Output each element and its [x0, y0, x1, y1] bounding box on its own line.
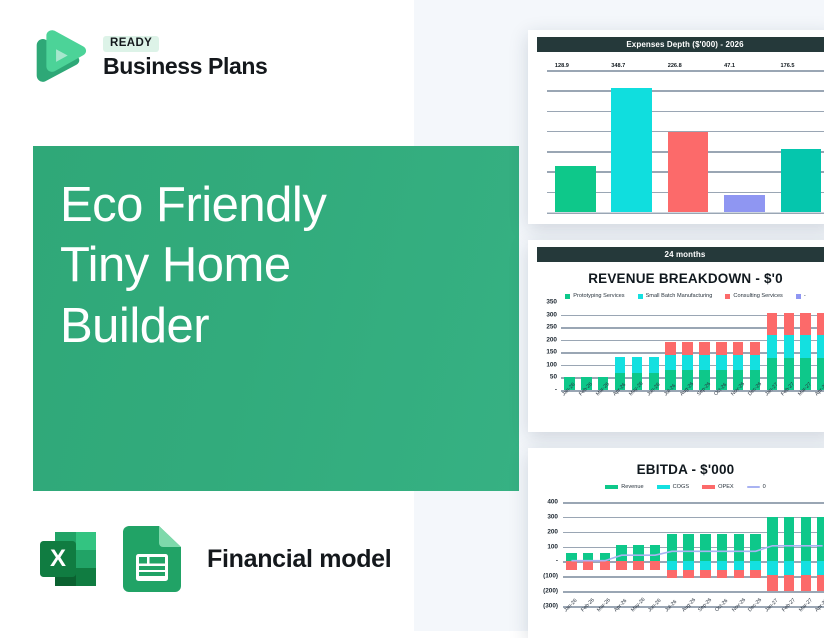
brand-name: Business Plans	[103, 55, 267, 78]
bar-segment	[784, 313, 794, 334]
legend-item: OPEX	[702, 484, 734, 490]
bar-column	[561, 302, 578, 390]
bar-segment	[649, 357, 659, 373]
y-tick-label: 100	[537, 543, 558, 550]
bar-value-label: 128.9	[555, 63, 569, 69]
bar: 47.1	[724, 195, 765, 212]
bar-segment	[699, 355, 709, 371]
legend-label: -	[804, 293, 806, 299]
bar-column	[797, 302, 814, 390]
y-tick-label: 250	[537, 324, 557, 331]
y-tick-label: (100)	[537, 573, 558, 580]
bar-segment	[750, 342, 760, 355]
legend-color-swatch	[725, 294, 730, 299]
legend-item: -	[796, 293, 806, 299]
bar-segment	[784, 335, 794, 358]
bar-segment	[682, 355, 692, 371]
y-tick-label: 200	[537, 336, 557, 343]
page-title: Eco Friendly Tiny Home Builder	[60, 175, 490, 356]
y-tick-label: 300	[537, 513, 558, 520]
bar-segment	[817, 335, 824, 358]
legend-item: Small Batch Manufacturing	[638, 293, 713, 299]
chart-card-ebitda[interactable]: EBITDA - $'000 RevenueCOGSOPEX0 40030020…	[528, 448, 824, 638]
y-tick-label: (300)	[537, 603, 558, 610]
bar-column	[578, 302, 595, 390]
bar-column: 348.7	[603, 70, 659, 212]
ready-badge: READY	[103, 36, 159, 53]
legend-color-swatch	[657, 485, 670, 489]
bar-segment	[716, 342, 726, 355]
y-tick-label: 150	[537, 349, 557, 356]
poster-canvas: READY Business Plans Eco Friendly Tiny H…	[0, 0, 824, 631]
bar-segment	[733, 342, 743, 355]
bar-segment	[767, 335, 777, 358]
legend-item: 0	[747, 484, 766, 490]
legend-color-swatch	[565, 294, 570, 299]
bar: 128.9	[555, 166, 596, 212]
y-tick-label: (200)	[537, 588, 558, 595]
y-tick-label: 400	[537, 499, 558, 506]
legend-item: Consulting Services	[725, 293, 782, 299]
bar-column: 128.9	[547, 70, 603, 212]
bar-column	[696, 302, 713, 390]
revenue-plot-area: 35030025020015010050-Jan-26Feb-26Mar-26A…	[537, 300, 824, 428]
legend-line-swatch	[747, 486, 760, 488]
legend-item: Prototyping Services	[565, 293, 624, 299]
bar-segment	[699, 342, 709, 355]
bar-column	[780, 302, 797, 390]
financial-model-label: Financial model	[207, 545, 391, 574]
play-logo-icon	[27, 26, 89, 88]
bar-value-label: 176.5	[781, 63, 795, 69]
bar-column	[595, 302, 612, 390]
legend-label: Small Batch Manufacturing	[646, 293, 713, 299]
bar: 176.5	[781, 149, 822, 212]
bar-column: 226.8	[660, 70, 716, 212]
y-tick-label: 300	[537, 311, 557, 318]
legend-color-swatch	[702, 485, 715, 489]
bar-column	[612, 302, 629, 390]
bar-segment	[632, 357, 642, 373]
bar-column: 47.1	[716, 70, 772, 212]
y-tick-label: 200	[537, 528, 558, 535]
footer-formats: X Financial model	[33, 524, 391, 594]
bar-column	[730, 302, 747, 390]
bar-column	[679, 302, 696, 390]
expenses-chart-header: Expenses Depth ($'000) - 2026	[537, 37, 824, 52]
ebitda-chart-title: EBITDA - $'000	[537, 462, 824, 477]
legend-label: 0	[763, 484, 766, 490]
bar-column	[629, 302, 646, 390]
bar: 348.7	[611, 88, 652, 212]
google-sheets-icon	[121, 526, 183, 592]
x-axis-labels: Jan-26Feb-26Mar-26Apr-26May-26Jun-26Jul-…	[561, 393, 824, 399]
bar-segment	[733, 355, 743, 371]
y-tick-label: 350	[537, 299, 557, 306]
svg-text:X: X	[50, 545, 66, 572]
y-tick-label: -	[537, 558, 558, 565]
legend-item: Revenue	[605, 484, 643, 490]
bar-column	[747, 302, 764, 390]
revenue-legend: Prototyping ServicesSmall Batch Manufact…	[537, 293, 824, 299]
legend-label: Revenue	[621, 484, 643, 490]
bar-value-label: 226.8	[668, 63, 682, 69]
legend-label: OPEX	[718, 484, 734, 490]
legend-item: COGS	[657, 484, 689, 490]
bar-segment	[817, 313, 824, 334]
revenue-months-header: 24 months	[537, 247, 824, 262]
legend-color-swatch	[638, 294, 643, 299]
y-tick-label: 100	[537, 361, 557, 368]
y-tick-label: 50	[537, 374, 557, 381]
bar-value-label: 348.7	[611, 63, 625, 69]
bar-segment	[665, 355, 675, 371]
bar-segment	[800, 313, 810, 334]
bar-column	[764, 302, 781, 390]
bar-segment	[682, 342, 692, 355]
bar-segment	[665, 342, 675, 355]
bar-column	[713, 302, 730, 390]
bar-segment	[767, 313, 777, 334]
revenue-chart-title: REVENUE BREAKDOWN - $'0	[537, 271, 824, 286]
x-axis-labels: Jan-26Feb-26Mar-26Apr-26May-26Jun-26Jul-…	[563, 609, 824, 615]
bar: 226.8	[668, 132, 709, 213]
legend-label: Consulting Services	[733, 293, 782, 299]
legend-label: COGS	[673, 484, 689, 490]
bar-segment	[800, 335, 810, 358]
legend-label: Prototyping Services	[573, 293, 624, 299]
bar-column	[814, 302, 824, 390]
bar-value-label: 47.1	[724, 63, 735, 69]
brand-lockup: READY Business Plans	[27, 26, 267, 88]
axis-line	[547, 212, 824, 213]
chart-card-revenue[interactable]: 24 months REVENUE BREAKDOWN - $'0 Protot…	[528, 240, 824, 432]
expenses-plot-area: 128.9348.7226.847.1176.5	[537, 58, 824, 218]
bar-segment	[750, 355, 760, 371]
bar-segment	[615, 357, 625, 373]
hero-panel: Eco Friendly Tiny Home Builder	[33, 146, 519, 491]
chart-card-expenses[interactable]: Expenses Depth ($'000) - 2026 128.9348.7…	[528, 30, 824, 224]
ebitda-zero-line	[563, 502, 824, 606]
legend-color-swatch	[796, 294, 801, 299]
bar-column	[645, 302, 662, 390]
ebitda-plot-area: 400300200100-(100)(200)(300)Jan-26Feb-26…	[537, 500, 824, 638]
microsoft-excel-icon: X	[33, 524, 103, 594]
bar-column: 176.5	[773, 70, 824, 212]
ebitda-legend: RevenueCOGSOPEX0	[537, 484, 824, 490]
expenses-bars: 128.9348.7226.847.1176.5	[547, 70, 824, 212]
y-tick-label: -	[537, 387, 557, 394]
bar-column	[662, 302, 679, 390]
legend-color-swatch	[605, 485, 618, 489]
bar-segment	[716, 355, 726, 371]
revenue-bars	[561, 302, 824, 390]
